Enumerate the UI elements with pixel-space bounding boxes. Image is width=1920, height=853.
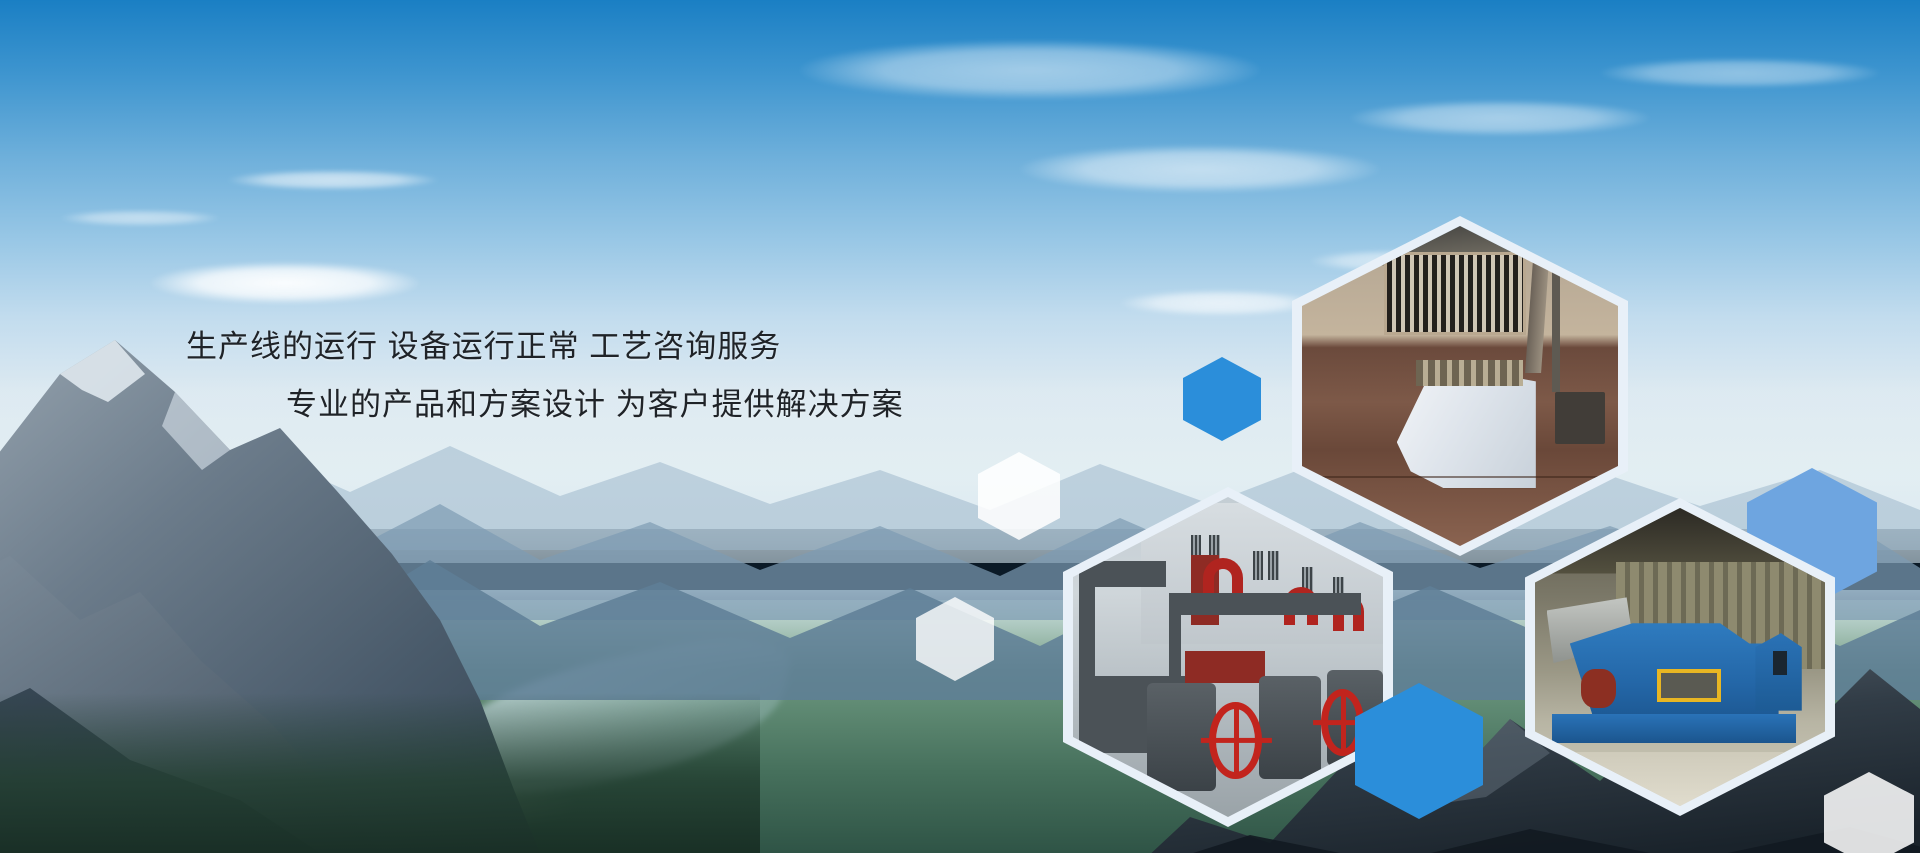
cloud-icon xyxy=(1120,290,1320,316)
cloud-icon xyxy=(60,210,220,226)
cloud-icon xyxy=(1600,58,1880,88)
yellow-guard xyxy=(1657,669,1721,702)
cloud-icon xyxy=(1020,145,1380,193)
press-drum xyxy=(1259,676,1321,778)
headline-line-1: 生产线的运行 设备运行正常 工艺咨询服务 xyxy=(186,318,1060,376)
building-window xyxy=(1268,551,1279,580)
cloud-icon xyxy=(150,262,420,304)
cloud-icon xyxy=(1350,100,1650,136)
headline-line-2: 专业的产品和方案设计 为客户提供解决方案 xyxy=(186,376,1060,434)
cabinet-window xyxy=(1773,651,1788,675)
storage-bin xyxy=(1555,392,1606,443)
building-window xyxy=(1253,551,1264,580)
blue-shredder-image xyxy=(1535,508,1825,806)
cloud-icon xyxy=(228,170,438,190)
steel-column xyxy=(1079,561,1095,689)
ground-line xyxy=(1302,476,1618,478)
red-handwheel xyxy=(1209,702,1262,779)
hero-headline: 生产线的运行 设备运行正常 工艺咨询服务 专业的产品和方案设计 为客户提供解决方… xyxy=(0,318,1060,434)
downpipe xyxy=(1552,264,1560,392)
foreground-forest xyxy=(0,693,760,853)
crusher-flange xyxy=(1416,360,1523,386)
crusher-equipment-image xyxy=(1302,226,1618,546)
hero-banner: 生产线的运行 设备运行正常 工艺咨询服务 专业的产品和方案设计 为客户提供解决方… xyxy=(0,0,1920,853)
building-window xyxy=(1384,252,1526,335)
press-machines-image xyxy=(1073,497,1383,817)
steel-beam xyxy=(1169,593,1361,615)
red-panel xyxy=(1185,651,1266,683)
cloud-icon xyxy=(800,40,1260,100)
shredder-base xyxy=(1552,714,1796,744)
drive-motor xyxy=(1581,669,1616,708)
